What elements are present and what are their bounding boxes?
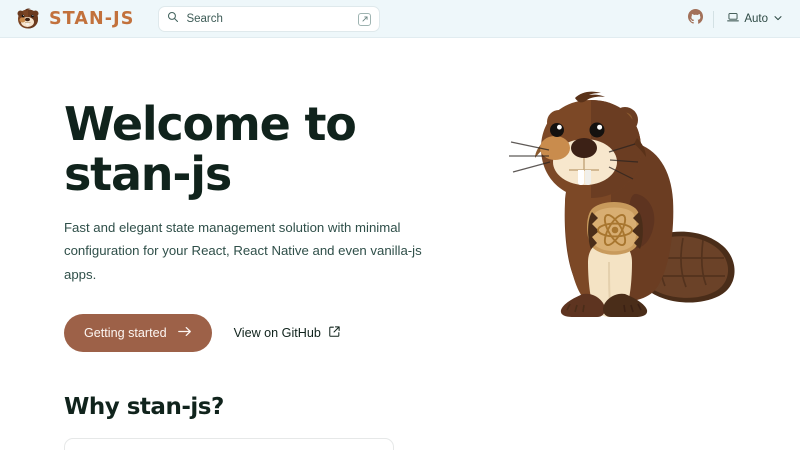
navbar: STAN-JS <box>0 0 800 38</box>
brand-text: STAN-JS <box>49 9 134 29</box>
page-content: Welcome to stan-js Fast and elegant stat… <box>0 38 800 450</box>
view-on-github-button[interactable]: View on GitHub <box>234 326 340 340</box>
chevron-down-icon[interactable] <box>773 10 783 28</box>
hero-text-column: Welcome to stan-js Fast and elegant stat… <box>64 100 464 352</box>
feature-card[interactable] <box>64 438 394 450</box>
view-on-github-label: View on GitHub <box>234 326 321 340</box>
github-link[interactable] <box>688 9 703 29</box>
theme-label: Auto <box>744 13 768 25</box>
beaver-head-icon <box>14 7 42 31</box>
page-title: Welcome to stan-js <box>64 100 464 199</box>
keyboard-key-icon[interactable] <box>358 13 371 26</box>
hero-illustration <box>484 90 760 330</box>
search-box[interactable] <box>158 6 380 32</box>
why-section: Why stan-js? <box>0 352 800 450</box>
hero-section: Welcome to stan-js Fast and elegant stat… <box>0 38 800 352</box>
navbar-divider <box>713 11 714 28</box>
getting-started-label: Getting started <box>84 326 167 340</box>
theme-switcher[interactable]: Auto <box>724 8 786 30</box>
why-section-title: Why stan-js? <box>64 394 736 420</box>
external-link-icon <box>329 326 340 340</box>
search-icon <box>167 10 179 28</box>
navbar-right-group: Auto <box>688 8 786 30</box>
arrow-right-icon <box>178 326 192 340</box>
getting-started-button[interactable]: Getting started <box>64 314 212 352</box>
hero-actions: Getting started View on GitHub <box>64 314 464 352</box>
laptop-icon <box>727 10 739 28</box>
brand-logo-link[interactable]: STAN-JS <box>14 7 134 31</box>
beaver-holding-cookie-illustration <box>497 90 747 330</box>
hero-subtitle: Fast and elegant state management soluti… <box>64 216 456 285</box>
github-icon <box>688 9 703 29</box>
search-input[interactable] <box>186 13 351 25</box>
